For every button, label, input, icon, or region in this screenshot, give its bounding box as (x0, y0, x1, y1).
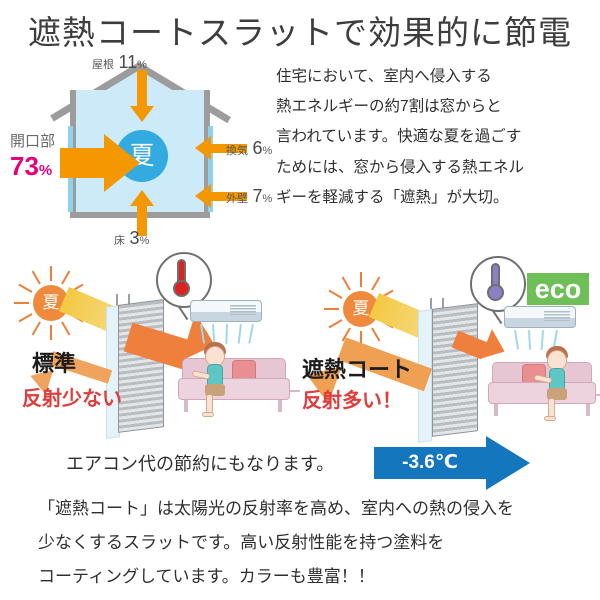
sofa-leg (278, 400, 282, 412)
sofa-seat (178, 378, 290, 400)
floor-arrow-head (130, 190, 154, 206)
label-opening: 開口部 73% (10, 130, 55, 182)
label-vent: 換気 6% (226, 138, 272, 159)
roof-arrow-head (130, 106, 154, 122)
label-vent-value: 6 (252, 138, 262, 158)
transmitted-heat-arrow-head (480, 329, 511, 366)
cool-thermometer-bulb (487, 284, 504, 301)
air-conditioner-fins (544, 311, 570, 321)
intro-line: 熱エネルギーの約7割は窓からと (276, 92, 594, 122)
opening-arrow (60, 148, 110, 178)
air-conditioner (504, 306, 576, 328)
blind-slats-coated (432, 303, 478, 437)
label-opening-value: 73 (10, 151, 39, 181)
comparison-panel-standard: 夏 標準 反射少ない (0, 248, 300, 438)
airflow-line (514, 330, 519, 350)
bottom-paragraph: 「遮熱コート」は太陽光の反射率を高め、室内への熱の侵入を 少なくするスラットです… (38, 492, 586, 594)
airflow-line (528, 330, 531, 350)
hot-thermometer-bulb (173, 280, 190, 297)
person-leg (548, 398, 555, 418)
airflow-line (248, 324, 254, 344)
air-conditioner-fins (230, 305, 256, 315)
person-leg (206, 394, 213, 414)
label-roof-value: 11 (118, 52, 137, 72)
intro-line: 言われています。快適な夏を過ごす (276, 122, 594, 152)
vent-arrow-head (195, 136, 211, 160)
house-heat-gain-diagram: 夏 屋根 11% 換気 6% 外壁 7% 床 3% 開口部 73% (8, 52, 278, 247)
label-opening-unit: % (39, 162, 52, 179)
intro-line: ギーを軽減する「遮熱」が大切。 (276, 183, 594, 213)
label-wall: 外壁 7% (226, 186, 272, 207)
airflow-line (225, 324, 228, 344)
label-wall-text: 外壁 (226, 193, 248, 205)
standard-subtitle: 反射少ない (22, 382, 122, 411)
person-foot (202, 412, 214, 417)
sofa-leg (184, 400, 188, 412)
intro-line: ためには、窓から侵入する熱エネル (276, 153, 594, 183)
coated-title: 遮熱コート (302, 352, 412, 384)
label-floor-text: 床 (114, 235, 125, 247)
intro-line: 住宅において、室内へ侵入する (276, 62, 594, 92)
opening-arrow-head (104, 134, 140, 192)
air-conditioner (190, 300, 262, 322)
label-roof: 屋根 11% (92, 52, 147, 73)
sofa-seat (488, 382, 596, 404)
bottom-line: 「遮熱コート」は太陽光の反射率を高め、室内への熱の侵入を (38, 492, 586, 526)
intro-paragraph: 住宅において、室内へ侵入する 熱エネルギーの約7割は窓からと 言われています。快… (276, 62, 594, 213)
label-floor-value: 3 (129, 228, 139, 248)
sofa-leg (494, 404, 498, 416)
label-floor-unit: % (139, 235, 149, 247)
temperature-arrow-head (486, 436, 530, 490)
standard-title: 標準 (32, 346, 76, 378)
person-foot (544, 416, 556, 421)
blind-slats-standard (118, 299, 164, 433)
label-roof-unit: % (137, 59, 147, 71)
wall-arrow-head (195, 184, 211, 208)
eco-badge: eco (527, 273, 589, 305)
sofa-leg (586, 404, 590, 416)
bottom-line: 少なくするスラットです。高い反射性能を持つ塗料を (38, 526, 586, 560)
label-wall-value: 7 (252, 186, 262, 206)
label-vent-text: 換気 (226, 145, 248, 157)
bottom-line: コーティングしています。カラーも豊富！！ (38, 560, 586, 594)
airflow-line (238, 324, 242, 344)
label-floor: 床 3% (114, 228, 149, 249)
airflow-line (541, 330, 544, 350)
roof-arrow (137, 70, 147, 108)
temperature-delta-label: -3.6℃ (374, 447, 486, 479)
coated-subtitle: 反射多い！ (302, 384, 402, 413)
label-wall-unit: % (262, 193, 272, 205)
label-vent-unit: % (262, 145, 272, 157)
savings-text: エアコン代の節約にもなります。 (66, 450, 334, 476)
label-roof-text: 屋根 (92, 59, 114, 71)
page-title: 遮熱コートスラットで効果的に節電 (0, 6, 600, 54)
savings-row: エアコン代の節約にもなります。 -3.6℃ (0, 442, 600, 488)
label-opening-text: 開口部 (10, 130, 55, 151)
